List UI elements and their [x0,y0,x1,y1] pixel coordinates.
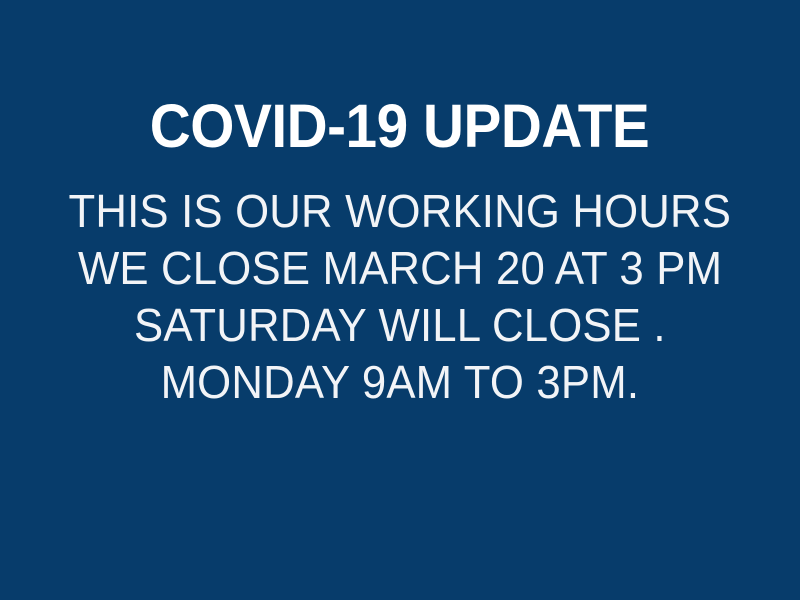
page-title: COVID-19 UPDATE [150,96,649,157]
message-line-2: WE CLOSE MARCH 20 AT 3 PM [78,240,722,297]
notice-content-stack: COVID-19 UPDATE THIS IS OUR WORKING HOUR… [0,0,800,600]
working-hours-message: THIS IS OUR WORKING HOURS WE CLOSE MARCH… [51,183,749,411]
message-line-3: SATURDAY WILL CLOSE . [134,297,666,354]
covid-update-poster: COVID-19 UPDATE THIS IS OUR WORKING HOUR… [0,0,800,600]
message-line-4: MONDAY 9AM TO 3PM. [161,354,640,411]
message-line-1: THIS IS OUR WORKING HOURS [69,183,732,240]
